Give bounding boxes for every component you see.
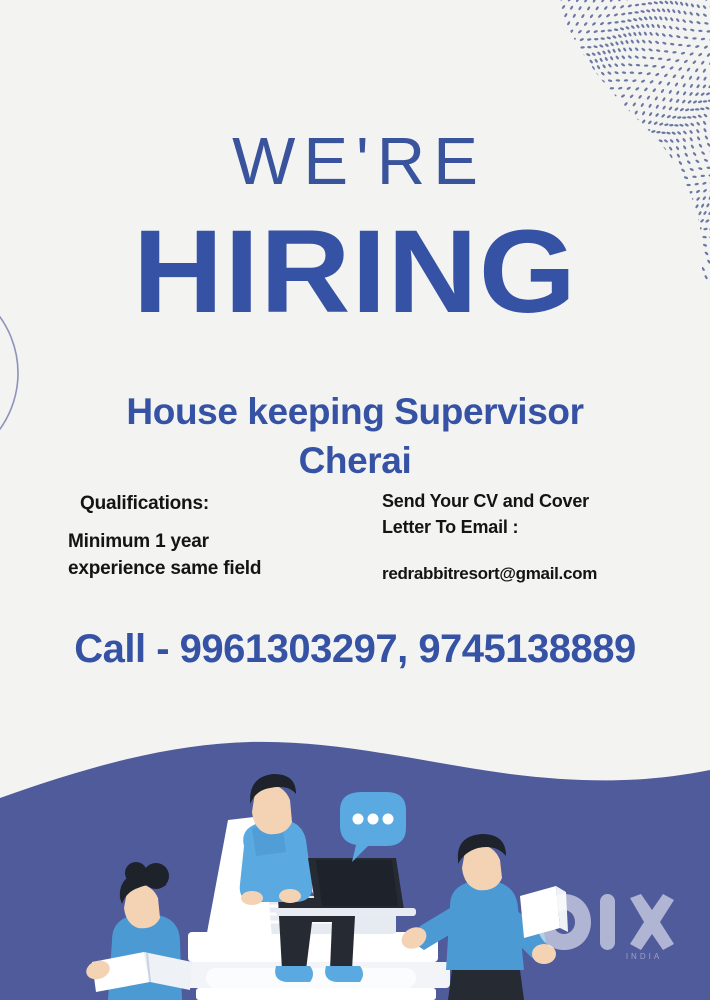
details-row: Qualifications: Minimum 1 year experienc… bbox=[0, 493, 710, 603]
qualifications-line-1: Minimum 1 year bbox=[68, 531, 209, 552]
apply-heading-line-1: Send Your CV and Cover bbox=[382, 491, 589, 511]
apply-heading: Send Your CV and Cover Letter To Email : bbox=[382, 489, 682, 540]
apply-column: Send Your CV and Cover Letter To Email :… bbox=[382, 489, 682, 584]
job-title-block: House keeping Supervisor Cherai bbox=[0, 388, 710, 486]
qualifications-line-2: experience same field bbox=[68, 558, 261, 579]
apply-email-address[interactable]: redrabbitresort@gmail.com bbox=[382, 564, 682, 584]
hiring-poster: WE'RE HIRING House keeping Supervisor Ch… bbox=[0, 0, 710, 1000]
apply-heading-line-2: Letter To Email : bbox=[382, 517, 518, 537]
job-location: Cherai bbox=[0, 437, 710, 486]
job-role: House keeping Supervisor bbox=[0, 388, 710, 437]
qualifications-column: Qualifications: Minimum 1 year experienc… bbox=[68, 493, 358, 583]
watermark-region-label: INDIA bbox=[626, 952, 662, 961]
headline-were: WE'RE bbox=[0, 128, 710, 195]
headline-block: WE'RE HIRING bbox=[0, 128, 710, 334]
headline-hiring: HIRING bbox=[0, 211, 710, 334]
contact-phone-line[interactable]: Call - 9961303297, 9745138889 bbox=[0, 627, 710, 672]
olx-india-watermark: INDIA bbox=[534, 888, 684, 962]
qualifications-heading: Qualifications: bbox=[80, 493, 358, 515]
qualifications-body: Minimum 1 year experience same field bbox=[68, 529, 358, 583]
